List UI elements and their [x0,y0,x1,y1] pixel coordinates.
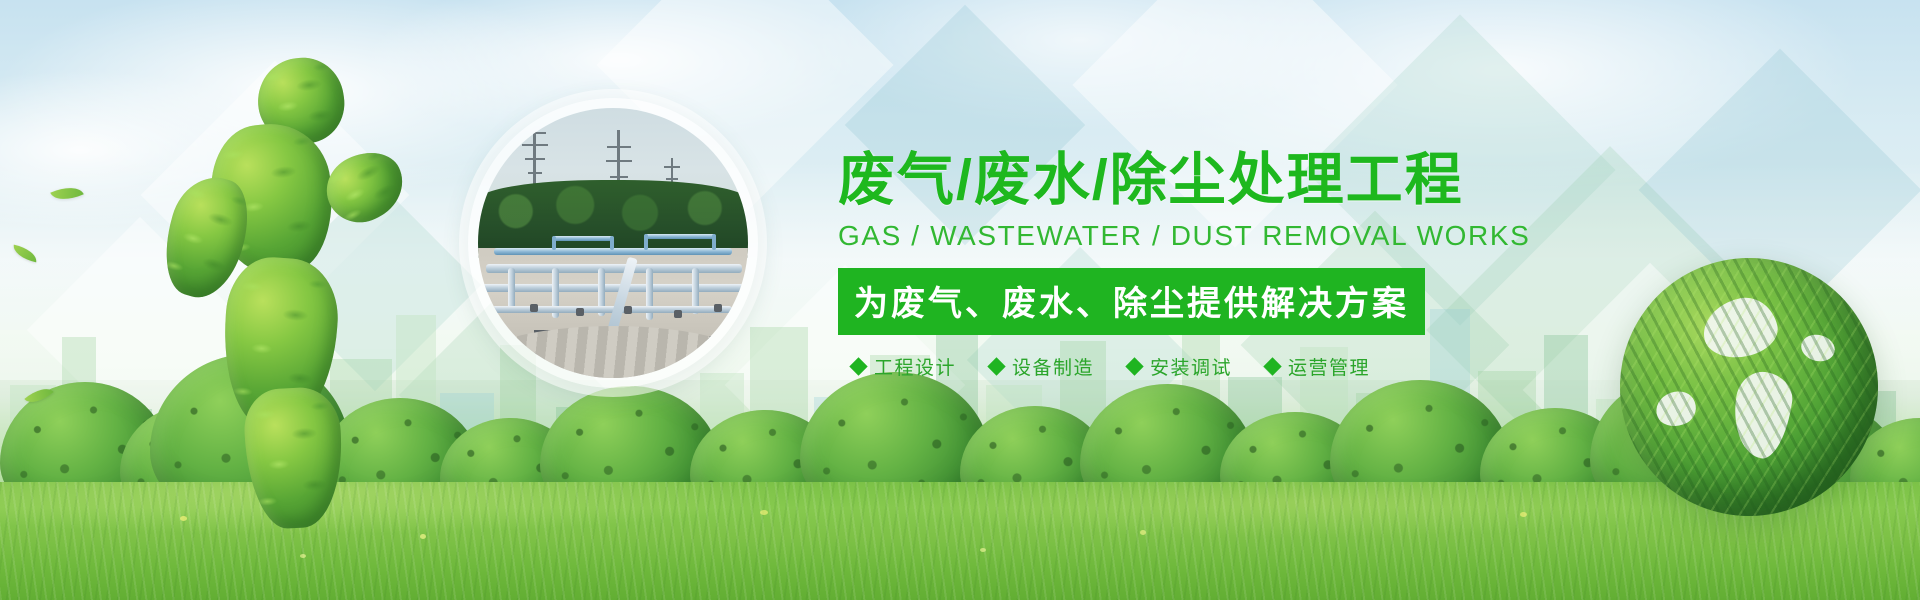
feature-list: 工程设计 设备制造 安装调试 运营管理 [838,353,1498,380]
diamond-icon [1263,357,1281,375]
page-subtitle: GAS / WASTEWATER / DUST REMOVAL WORKS [838,220,1498,252]
leaf-globe [1620,258,1878,516]
continent-shape [1697,292,1781,364]
feature-label: 设备制造 [1012,353,1094,380]
continent-shape [1728,368,1795,461]
feature-item-installation-commissioning[interactable]: 安装调试 [1128,353,1232,380]
continent-shape [1798,332,1837,365]
eco-engineering-banner: 废气/废水/除尘处理工程 GAS / WASTEWATER / DUST REM… [0,0,1920,600]
leaf-man-figure [150,58,415,528]
page-title: 废气/废水/除尘处理工程 [838,150,1498,212]
slogan-ribbon: 为废气、废水、除尘提供解决方案 [838,268,1425,335]
feature-label: 运营管理 [1288,353,1370,380]
feature-label: 安装调试 [1150,353,1232,380]
continent-shape [1652,386,1701,432]
feature-item-engineering-design[interactable]: 工程设计 [852,353,956,380]
feature-item-operation-management[interactable]: 运营管理 [1266,353,1370,380]
diamond-icon [1125,357,1143,375]
headline-block: 废气/废水/除尘处理工程 GAS / WASTEWATER / DUST REM… [838,150,1498,380]
diamond-icon [987,357,1005,375]
feature-label: 工程设计 [874,353,956,380]
wastewater-treatment-plant-photo [478,108,748,378]
diamond-icon [849,357,867,375]
feature-item-equipment-manufacturing[interactable]: 设备制造 [990,353,1094,380]
